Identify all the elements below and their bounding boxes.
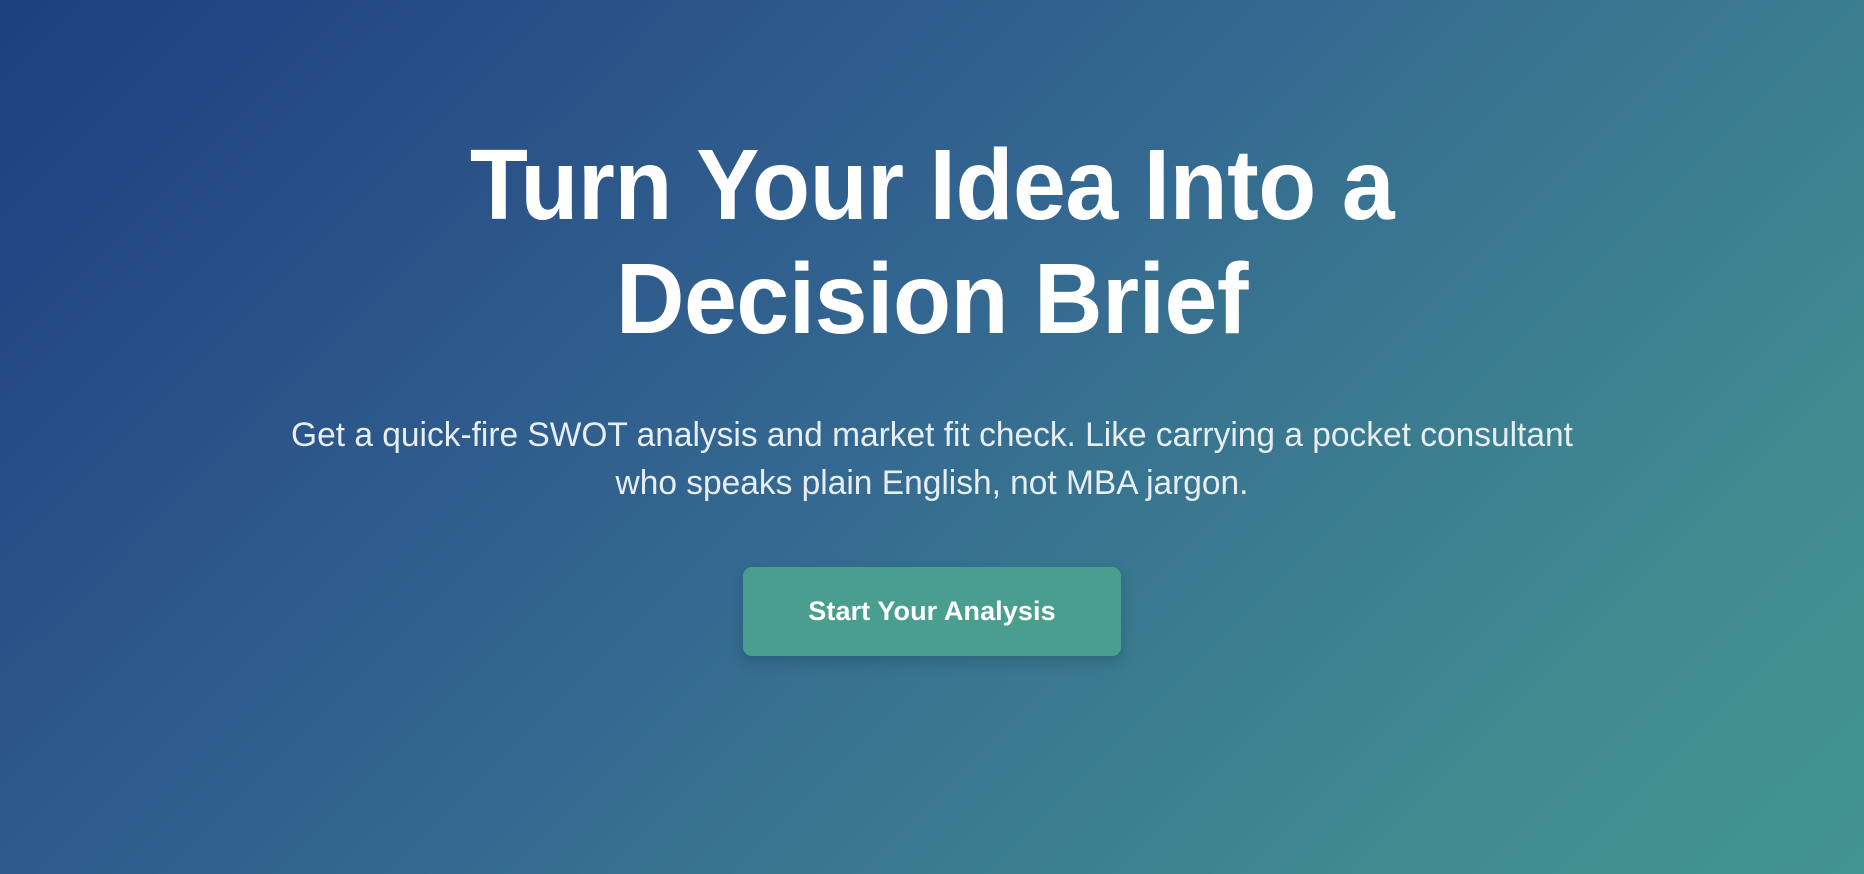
hero-section: Turn Your Idea Into a Decision Brief Get… [0, 0, 1864, 874]
hero-subtitle: Get a quick-fire SWOT analysis and marke… [282, 412, 1582, 507]
page-title-line-1: Turn Your Idea Into a [470, 129, 1394, 241]
cta-container: Start Your Analysis [0, 567, 1864, 656]
page-title: Turn Your Idea Into a Decision Brief [372, 128, 1493, 356]
page-title-line-2: Decision Brief [616, 243, 1248, 355]
hero-subtitle-line-1: Get a quick-fire SWOT analysis and marke… [291, 416, 1411, 454]
hero-content: Turn Your Idea Into a Decision Brief Get… [0, 0, 1864, 656]
start-analysis-button[interactable]: Start Your Analysis [743, 567, 1121, 656]
